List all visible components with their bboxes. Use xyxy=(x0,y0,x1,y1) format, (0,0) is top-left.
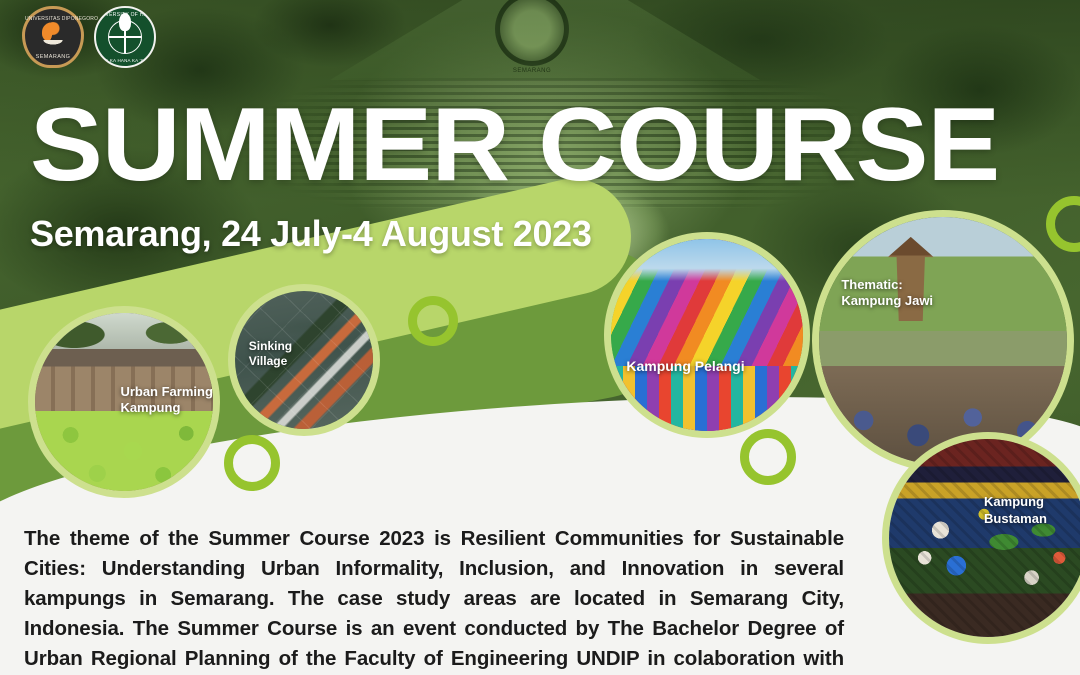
kampung-jawi-caption: Thematic: Kampung Jawi xyxy=(841,277,933,310)
summer-course-poster: UNIVERSITAS DIPONEGORO SEMARANG UNIVERSI… xyxy=(0,0,1080,675)
kampung-pelangi-caption: Kampung Pelangi xyxy=(626,358,744,376)
logo-group: UNIVERSITAS DIPONEGORO SEMARANG UNIVERSI… xyxy=(22,6,156,68)
undip-wing-icon xyxy=(36,40,70,54)
photo-circle-kampung-jawi: Thematic: Kampung Jawi xyxy=(812,210,1074,472)
uh-globe-icon xyxy=(108,20,142,54)
kampung-jawi-photo xyxy=(819,217,1067,465)
undip-logo: UNIVERSITAS DIPONEGORO SEMARANG xyxy=(22,6,84,68)
decorative-ring-icon xyxy=(740,429,796,485)
page-subtitle: Semarang, 24 July-4 August 2023 xyxy=(30,213,592,255)
urban-farming-caption-line1: Urban Farming xyxy=(120,384,212,400)
kampung-jawi-caption-line2: Kampung Jawi xyxy=(841,293,933,309)
kampung-jawi-caption-line1: Thematic: xyxy=(841,277,933,293)
undip-logo-arc-top: UNIVERSITAS DIPONEGORO xyxy=(25,16,81,22)
urban-farming-caption-line2: Kampung xyxy=(120,400,212,416)
kampung-bustaman-caption-line1: Kampung xyxy=(984,494,1047,510)
kampung-bustaman-caption: Kampung Bustaman xyxy=(984,494,1047,527)
university-of-hawaii-logo: UNIVERSITY OF HAWAI'I MA KA HANA KA 'IKE xyxy=(94,6,156,68)
decorative-ring-icon xyxy=(224,435,280,491)
undip-emblem-icon xyxy=(42,22,64,42)
sinking-village-caption-line2: Village xyxy=(249,354,292,369)
kampung-bustaman-caption-line2: Bustaman xyxy=(984,511,1047,527)
kampung-pelangi-photo xyxy=(611,239,803,431)
decorative-ring-icon xyxy=(408,296,458,346)
page-title: SUMMER COURSE xyxy=(30,96,999,196)
body-paragraph: The theme of the Summer Course 2023 is R… xyxy=(24,524,844,675)
photo-circle-sinking-village: Sinking Village xyxy=(228,284,380,436)
sinking-village-caption: Sinking Village xyxy=(249,339,292,369)
sinking-village-caption-line1: Sinking xyxy=(249,339,292,354)
kampung-bustaman-photo xyxy=(889,439,1080,637)
urban-farming-caption: Urban Farming Kampung xyxy=(120,384,212,417)
photo-circle-urban-farming: Urban Farming Kampung xyxy=(28,306,220,498)
undip-logo-arc-bottom: SEMARANG xyxy=(25,54,81,60)
uh-logo-arc-bottom: MA KA HANA KA 'IKE xyxy=(96,58,154,63)
photo-circle-kampung-bustaman: Kampung Bustaman xyxy=(882,432,1080,644)
kampung-pelangi-caption-line1: Kampung Pelangi xyxy=(626,358,744,376)
uh-torch-icon xyxy=(119,13,131,31)
photo-circle-kampung-pelangi: Kampung Pelangi xyxy=(604,232,810,438)
